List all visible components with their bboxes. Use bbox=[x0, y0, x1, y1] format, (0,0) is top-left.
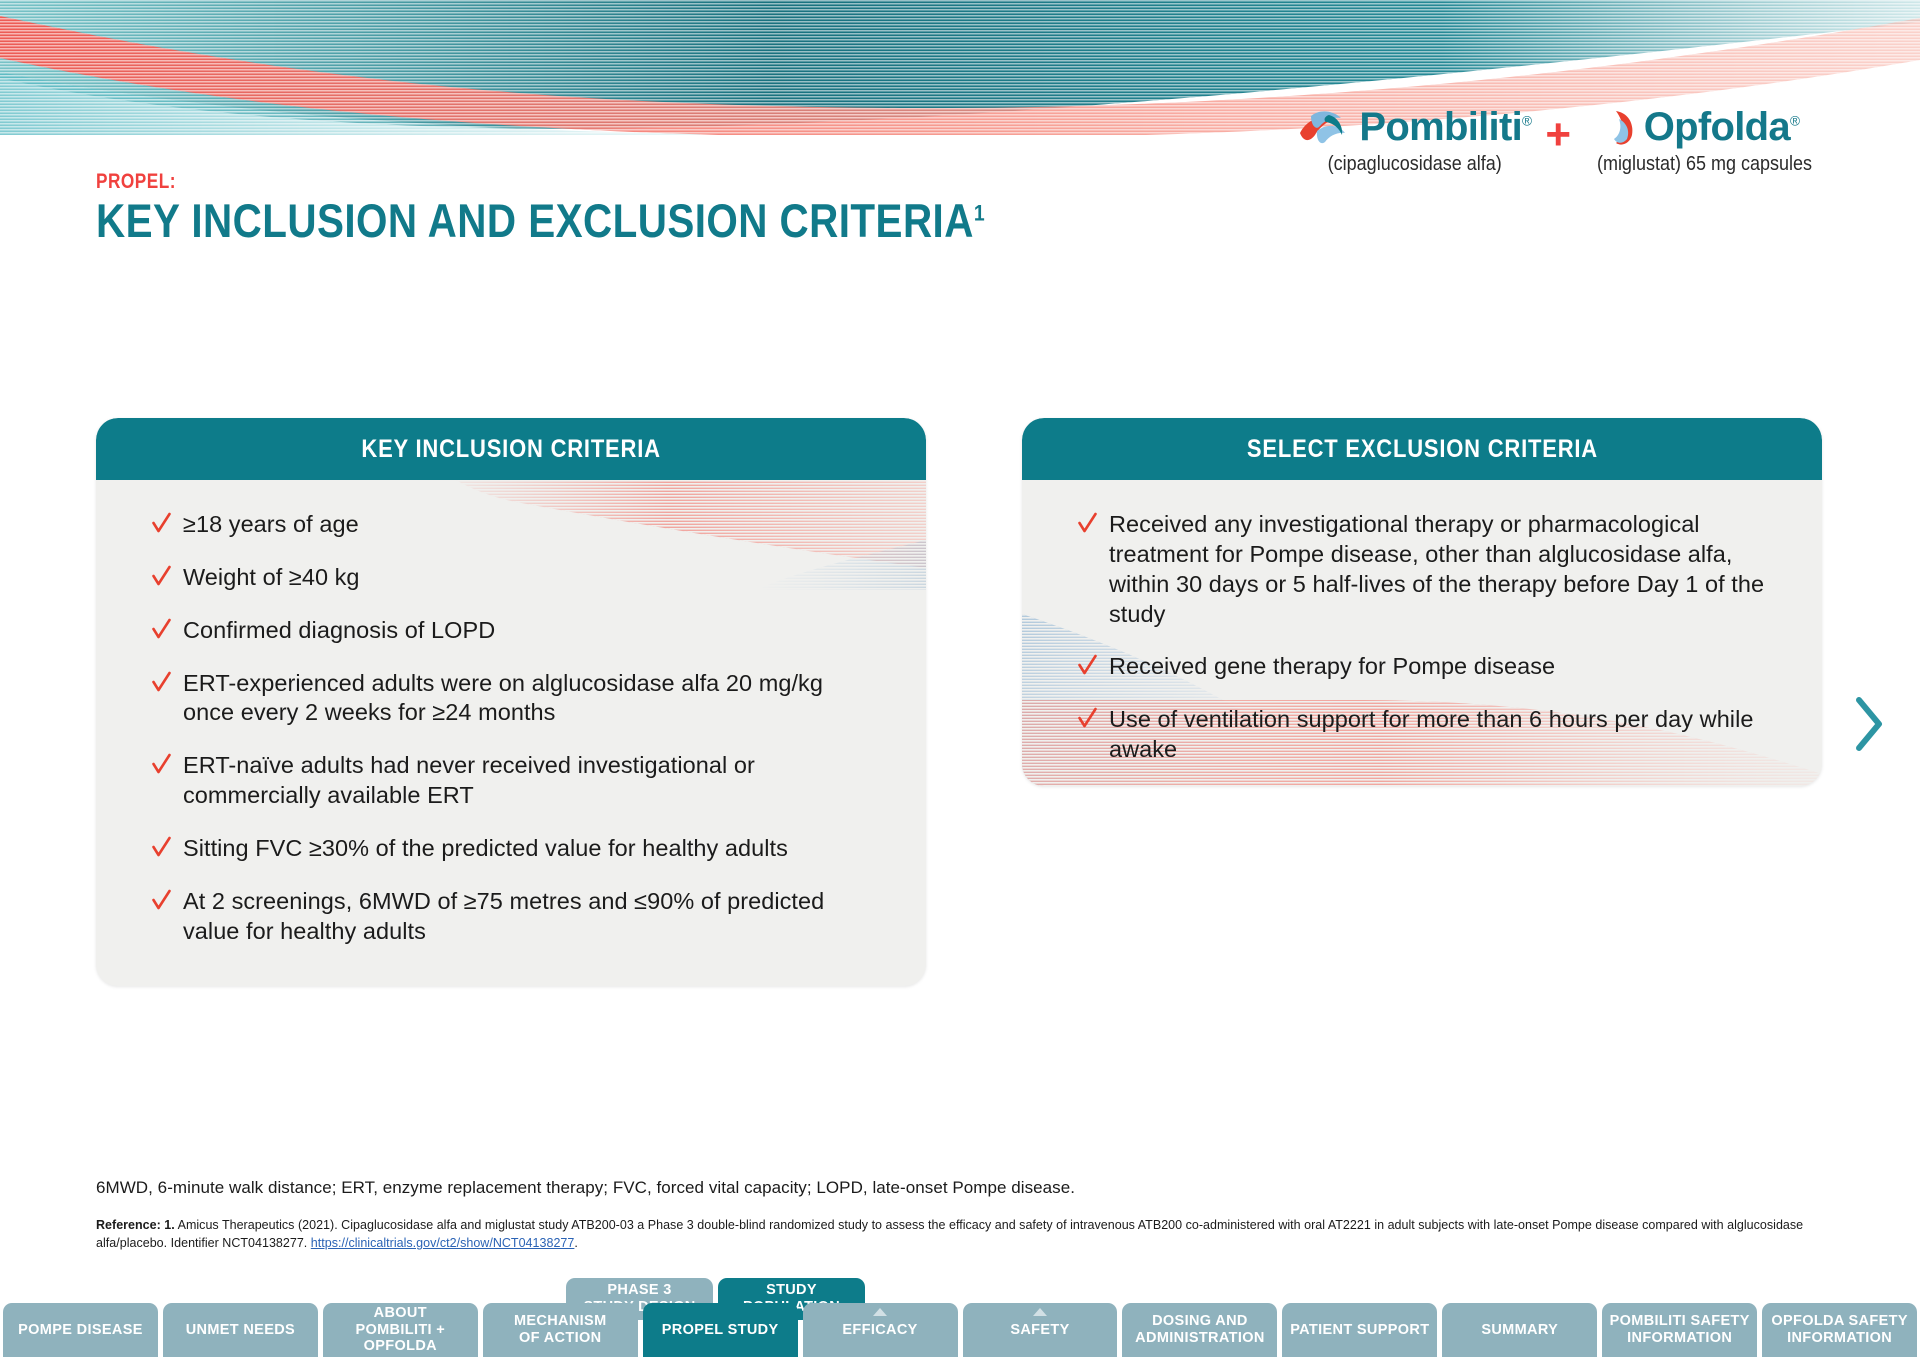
page-title-superscript: 1 bbox=[974, 200, 985, 225]
nav-item-label: OPFOLDA SAFETY INFORMATION bbox=[1771, 1313, 1907, 1347]
list-item: Weight of ≥40 kg bbox=[152, 563, 874, 593]
page-title: KEY INCLUSION AND EXCLUSION CRITERIA1 bbox=[96, 193, 985, 248]
nav-item-efficacy[interactable]: EFFICACY bbox=[803, 1303, 958, 1357]
reference-label: Reference: 1. bbox=[96, 1218, 175, 1232]
registered-mark: ® bbox=[1522, 114, 1531, 129]
card-header-label: SELECT EXCLUSION CRITERIA bbox=[1246, 435, 1597, 464]
list-item-label: Use of ventilation support for more than… bbox=[1109, 705, 1770, 765]
list-item: Use of ventilation support for more than… bbox=[1078, 705, 1770, 765]
page-eyebrow: PROPEL: bbox=[96, 170, 176, 194]
caret-up-icon bbox=[873, 1308, 887, 1316]
main-nav-bar: POMPE DISEASE UNMET NEEDS ABOUT POMBILIT… bbox=[0, 1303, 1920, 1357]
nav-item-label: UNMET NEEDS bbox=[186, 1322, 295, 1339]
list-item-label: Sitting FVC ≥30% of the predicted value … bbox=[183, 834, 788, 864]
inclusion-criteria-list: ≥18 years of age Weight of ≥40 kg Confir… bbox=[96, 480, 926, 976]
nav-item-label: PROPEL STUDY bbox=[662, 1322, 779, 1339]
list-item-label: Received gene therapy for Pompe disease bbox=[1109, 652, 1555, 682]
nav-item-propel-study[interactable]: PROPEL STUDY bbox=[643, 1303, 798, 1357]
checkmark-icon bbox=[152, 671, 171, 694]
checkmark-icon bbox=[152, 889, 171, 912]
chevron-right-icon[interactable] bbox=[1846, 694, 1892, 754]
list-item-label: ERT-experienced adults were on alglucosi… bbox=[183, 669, 874, 729]
list-item-label: Weight of ≥40 kg bbox=[183, 563, 360, 593]
pombiliti-generic-name: (cipaglucosidase alfa) bbox=[1327, 153, 1501, 176]
list-item-label: ERT-naïve adults had never received inve… bbox=[183, 751, 874, 811]
checkmark-icon bbox=[152, 753, 171, 776]
list-item: Received gene therapy for Pompe disease bbox=[1078, 652, 1770, 682]
nav-item-pombiliti-safety-information[interactable]: POMBILITI SAFETY INFORMATION bbox=[1602, 1303, 1757, 1357]
list-item-label: Confirmed diagnosis of LOPD bbox=[183, 616, 495, 646]
nav-item-label: SAFETY bbox=[1010, 1322, 1069, 1339]
card-header-inclusion: KEY INCLUSION CRITERIA bbox=[96, 418, 926, 480]
page-title-text: KEY INCLUSION AND EXCLUSION CRITERIA bbox=[96, 194, 974, 247]
key-inclusion-criteria-card: KEY INCLUSION CRITERIA bbox=[96, 418, 926, 986]
list-item: Confirmed diagnosis of LOPD bbox=[152, 616, 874, 646]
nav-item-dosing-and-administration[interactable]: DOSING AND ADMINISTRATION bbox=[1122, 1303, 1277, 1357]
list-item: ERT-naïve adults had never received inve… bbox=[152, 751, 874, 811]
checkmark-icon bbox=[1078, 707, 1097, 730]
brand-logo-lockup: Pombiliti® (cipaglucosidase alfa) + Opfo… bbox=[1297, 105, 1824, 176]
reference-tail: . bbox=[574, 1236, 578, 1250]
checkmark-icon bbox=[152, 618, 171, 641]
nav-item-label: PATIENT SUPPORT bbox=[1290, 1322, 1429, 1339]
checkmark-icon bbox=[152, 565, 171, 588]
nav-item-label: ABOUT POMBILITI + OPFOLDA bbox=[323, 1305, 478, 1355]
nav-item-pompe-disease[interactable]: POMPE DISEASE bbox=[3, 1303, 158, 1357]
nav-item-label: EFFICACY bbox=[842, 1322, 917, 1339]
checkmark-icon bbox=[1078, 512, 1097, 535]
nav-item-mechanism-of-action[interactable]: MECHANISM OF ACTION bbox=[483, 1303, 638, 1357]
card-header-exclusion: SELECT EXCLUSION CRITERIA bbox=[1022, 418, 1822, 480]
nav-item-summary[interactable]: SUMMARY bbox=[1442, 1303, 1597, 1357]
reference-note: Reference: 1. Amicus Therapeutics (2021)… bbox=[96, 1216, 1832, 1252]
nav-item-label: SUMMARY bbox=[1481, 1322, 1558, 1339]
nav-item-label: DOSING AND ADMINISTRATION bbox=[1135, 1313, 1264, 1347]
slide-root: PROPEL: KEY INCLUSION AND EXCLUSION CRIT… bbox=[0, 0, 1920, 1357]
checkmark-icon bbox=[152, 836, 171, 859]
list-item-label: At 2 screenings, 6MWD of ≥75 metres and … bbox=[183, 887, 874, 947]
registered-mark: ® bbox=[1790, 114, 1799, 129]
plus-icon: + bbox=[1545, 113, 1571, 157]
caret-up-icon bbox=[1033, 1308, 1047, 1316]
exclusion-criteria-list: Received any investigational therapy or … bbox=[1022, 480, 1822, 786]
checkmark-icon bbox=[1078, 654, 1097, 677]
nav-item-label: MECHANISM OF ACTION bbox=[514, 1313, 607, 1347]
list-item: ≥18 years of age bbox=[152, 510, 874, 540]
list-item: Sitting FVC ≥30% of the predicted value … bbox=[152, 834, 874, 864]
pombiliti-wordmark: Pombiliti® bbox=[1359, 107, 1531, 147]
list-item: ERT-experienced adults were on alglucosi… bbox=[152, 669, 874, 729]
select-exclusion-criteria-card: SELECT EXCLUSION CRITERIA bbox=[1022, 418, 1822, 786]
abbreviations-note: 6MWD, 6-minute walk distance; ERT, enzym… bbox=[96, 1178, 1075, 1198]
list-item-label: Received any investigational therapy or … bbox=[1109, 510, 1770, 629]
nav-item-patient-support[interactable]: PATIENT SUPPORT bbox=[1282, 1303, 1437, 1357]
list-item: Received any investigational therapy or … bbox=[1078, 510, 1770, 629]
pombiliti-logo: Pombiliti® (cipaglucosidase alfa) bbox=[1297, 105, 1531, 176]
checkmark-icon bbox=[152, 512, 171, 535]
list-item-label: ≥18 years of age bbox=[183, 510, 359, 540]
nav-item-label: POMBILITI SAFETY INFORMATION bbox=[1610, 1313, 1750, 1347]
reference-link[interactable]: https://clinicaltrials.gov/ct2/show/NCT0… bbox=[311, 1236, 575, 1250]
nav-item-opfolda-safety-information[interactable]: OPFOLDA SAFETY INFORMATION bbox=[1762, 1303, 1917, 1357]
nav-item-about-pombiliti-opfolda[interactable]: ABOUT POMBILITI + OPFOLDA bbox=[323, 1303, 478, 1357]
list-item: At 2 screenings, 6MWD of ≥75 metres and … bbox=[152, 887, 874, 947]
nav-item-label: POMPE DISEASE bbox=[18, 1322, 143, 1339]
opfolda-generic-name: (miglustat) 65 mg capsules bbox=[1597, 153, 1812, 176]
card-header-label: KEY INCLUSION CRITERIA bbox=[361, 435, 660, 464]
opfolda-wordmark: Opfolda® bbox=[1644, 107, 1800, 147]
opfolda-logo: Opfolda® (miglustat) 65 mg capsules bbox=[1585, 105, 1824, 176]
nav-item-safety[interactable]: SAFETY bbox=[963, 1303, 1118, 1357]
pombiliti-swoosh-icon bbox=[1297, 105, 1351, 149]
nav-item-unmet-needs[interactable]: UNMET NEEDS bbox=[163, 1303, 318, 1357]
opfolda-leaf-icon bbox=[1610, 105, 1636, 149]
